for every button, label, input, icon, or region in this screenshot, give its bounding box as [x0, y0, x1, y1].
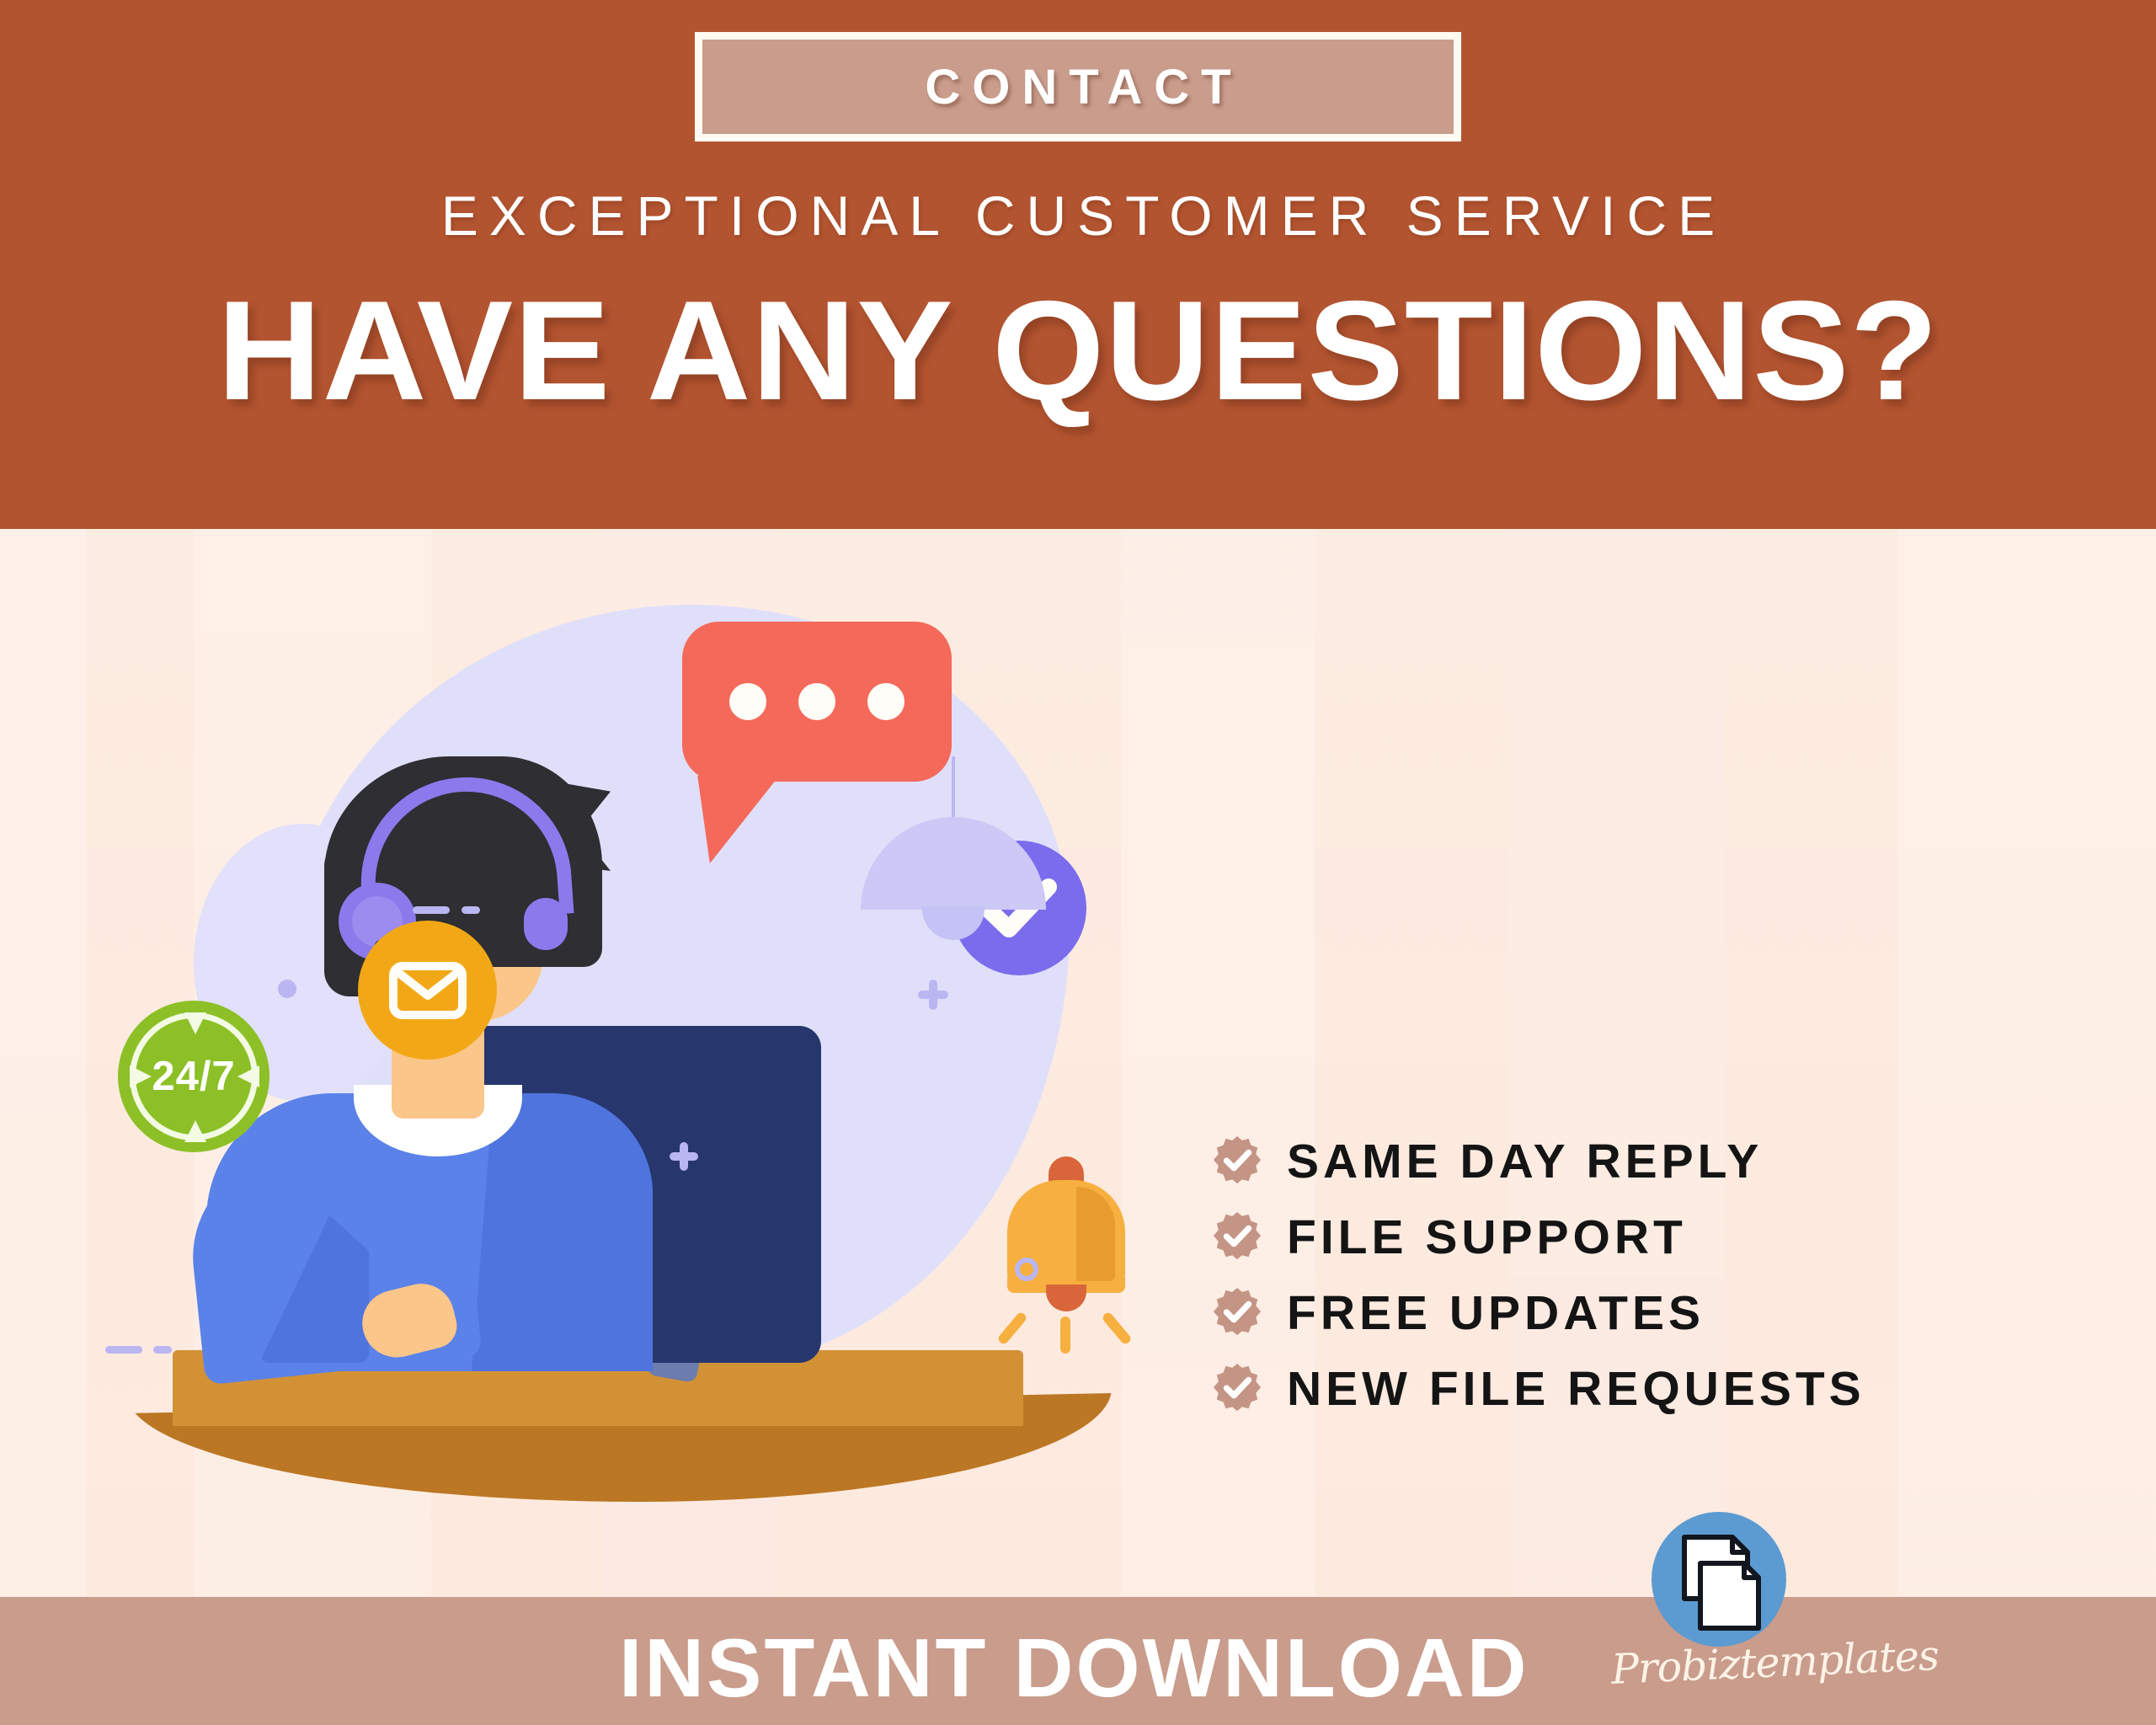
poster-canvas: CONTACT EXCEPTIONAL CUSTOMER SERVICE HAV…	[0, 0, 2156, 1725]
decorative-dash	[462, 906, 480, 914]
decorative-plus	[680, 1142, 688, 1171]
decorative-dash	[413, 906, 450, 914]
lamp-cord	[952, 756, 955, 824]
check-badge-icon	[1211, 1287, 1263, 1339]
feature-label: FREE UPDATES	[1287, 1285, 1705, 1341]
check-badge-icon	[1211, 1135, 1263, 1188]
list-item: NEW FILE REQUESTS	[1211, 1361, 1865, 1417]
availability-tick-south	[184, 1120, 206, 1142]
header-banner: CONTACT EXCEPTIONAL CUSTOMER SERVICE HAV…	[0, 0, 2156, 529]
feature-label: NEW FILE REQUESTS	[1287, 1361, 1865, 1417]
customer-support-illustration: 24/7	[109, 529, 1145, 1582]
envelope-icon	[358, 921, 497, 1060]
page-title: HAVE ANY QUESTIONS?	[217, 270, 1939, 432]
header-subtitle: EXCEPTIONAL CUSTOMER SERVICE	[430, 184, 1726, 248]
availability-label: 24/7	[152, 1053, 235, 1100]
decorative-plus	[929, 980, 937, 1010]
content-area: 24/7	[0, 529, 2156, 1597]
bell-ring-left	[996, 1311, 1027, 1345]
list-item: FILE SUPPORT	[1211, 1210, 1865, 1265]
typing-dot	[798, 683, 835, 720]
decorative-dash	[153, 1346, 172, 1354]
check-badge-icon	[1211, 1211, 1263, 1263]
bell-ring-middle	[1060, 1316, 1070, 1354]
availability-247-icon: 24/7	[118, 1001, 269, 1152]
speech-bubble-icon	[682, 622, 952, 782]
feature-list: SAME DAY REPLY FILE SUPPORT	[1211, 1134, 1865, 1417]
documents-stack-icon	[1680, 1533, 1763, 1632]
decorative-ring	[1015, 1258, 1038, 1281]
feature-label: FILE SUPPORT	[1287, 1210, 1687, 1265]
contact-badge-inner: CONTACT	[700, 37, 1456, 136]
instant-download-label: INSTANT DOWNLOAD	[619, 1621, 1529, 1716]
contact-badge: CONTACT	[695, 32, 1461, 142]
decorative-dot	[278, 980, 296, 998]
bell-ring-right	[1101, 1311, 1132, 1345]
typing-dot	[867, 683, 905, 720]
availability-tick-north	[184, 1012, 206, 1034]
notification-bell-icon	[1002, 1156, 1129, 1316]
list-item: FREE UPDATES	[1211, 1285, 1865, 1341]
decorative-dash	[105, 1346, 142, 1354]
feature-label: SAME DAY REPLY	[1287, 1134, 1763, 1189]
availability-tick-east	[237, 1065, 259, 1087]
bell-clapper	[1046, 1284, 1086, 1311]
contact-badge-label: CONTACT	[913, 59, 1242, 115]
availability-tick-west	[130, 1065, 152, 1087]
check-badge-icon	[1211, 1363, 1263, 1415]
typing-dot	[729, 683, 766, 720]
list-item: SAME DAY REPLY	[1211, 1134, 1865, 1189]
brand-name: Probiztemplates	[1610, 1636, 1839, 1694]
